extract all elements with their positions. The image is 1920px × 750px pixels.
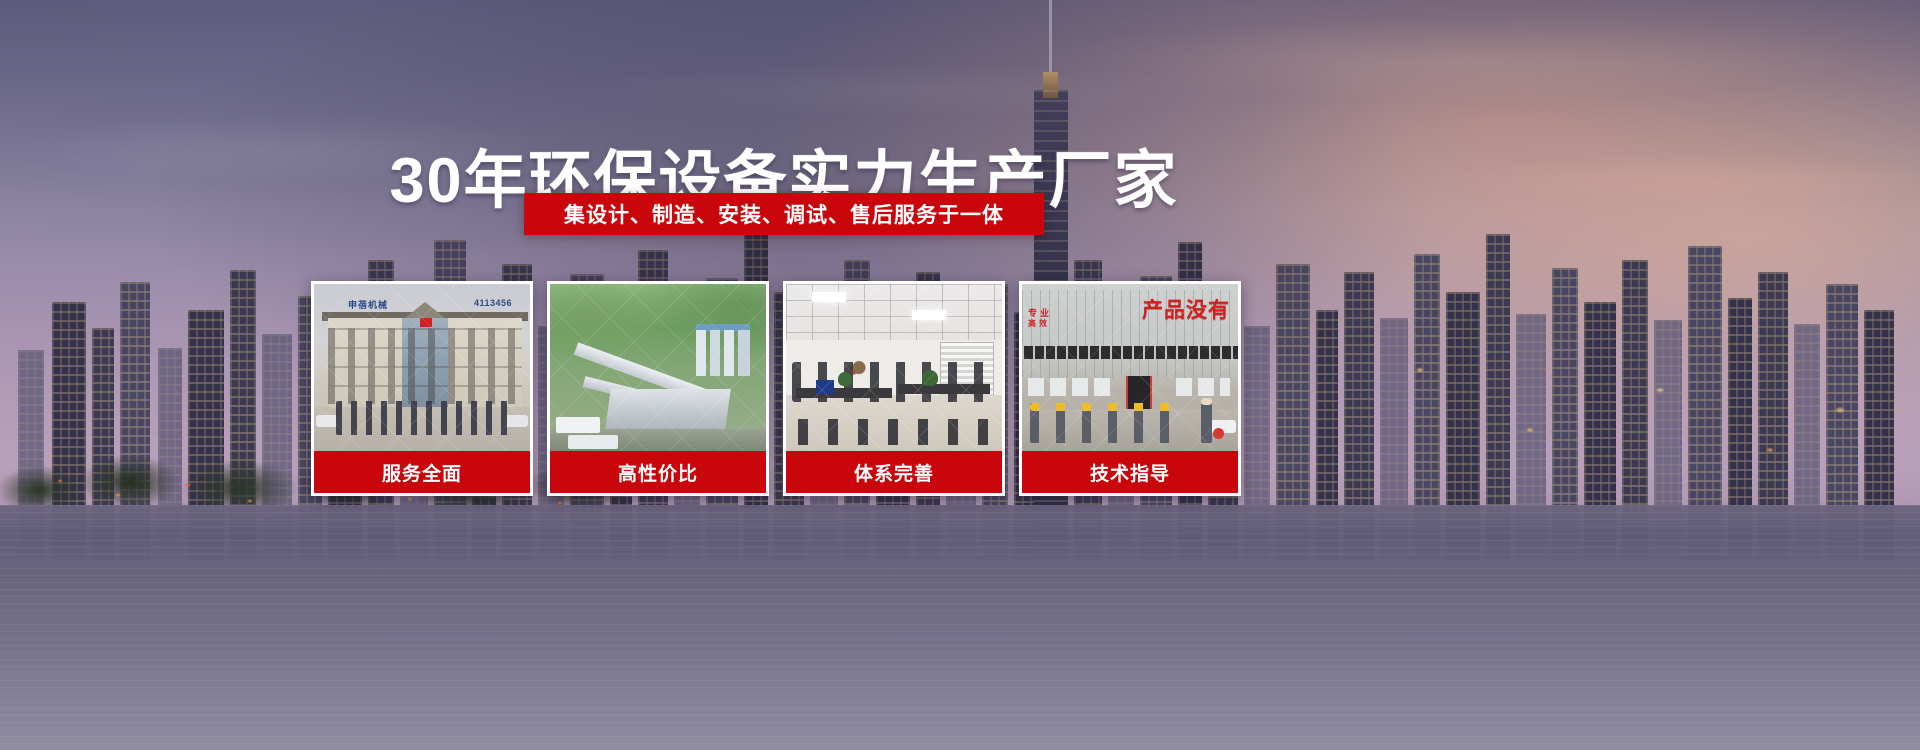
feature-card-row: 申蓓机械 4113456 服务全面 xyxy=(311,281,1257,496)
card-caption: 高性价比 xyxy=(550,451,766,493)
card-caption: 服务全面 xyxy=(314,451,530,493)
card-caption: 体系完善 xyxy=(786,451,1002,493)
building-phone-number: 4113456 xyxy=(474,298,512,308)
red-helmet-icon xyxy=(1213,428,1224,439)
card-caption: 技术指导 xyxy=(1022,451,1238,493)
card-photo-aerial-plant xyxy=(550,284,766,451)
card-photo-office-building: 申蓓机械 4113456 xyxy=(314,284,530,451)
factory-wall-slogan: 产品没有 xyxy=(1142,294,1230,324)
feature-card-system[interactable]: 体系完善 xyxy=(783,281,1005,496)
subtitle-text: 集设计、制造、安装、调试、售后服务于一体 xyxy=(564,199,1004,229)
banner-content: 30年环保设备实力生产厂家 集设计、制造、安装、调试、售后服务于一体 申蓓机械 … xyxy=(0,0,1920,750)
laptop-icon xyxy=(816,380,834,394)
feature-card-value[interactable]: 高性价比 xyxy=(547,281,769,496)
hero-banner: 30年环保设备实力生产厂家 集设计、制造、安装、调试、售后服务于一体 申蓓机械 … xyxy=(0,0,1920,750)
card-photo-office-interior xyxy=(786,284,1002,451)
feature-card-service[interactable]: 申蓓机械 4113456 服务全面 xyxy=(311,281,533,496)
subtitle-banner: 集设计、制造、安装、调试、售后服务于一体 xyxy=(524,193,1044,235)
staff-lineup xyxy=(336,401,514,435)
feature-card-guidance[interactable]: 专业 高效 产品没有 技术指导 xyxy=(1019,281,1241,496)
card-photo-factory-workers: 专业 高效 产品没有 xyxy=(1022,284,1238,451)
flag-icon xyxy=(420,318,432,327)
hard-hats xyxy=(1030,403,1180,411)
factory-slogan-small-2: 高效 xyxy=(1028,318,1050,329)
building-company-sign: 申蓓机械 xyxy=(348,298,388,311)
